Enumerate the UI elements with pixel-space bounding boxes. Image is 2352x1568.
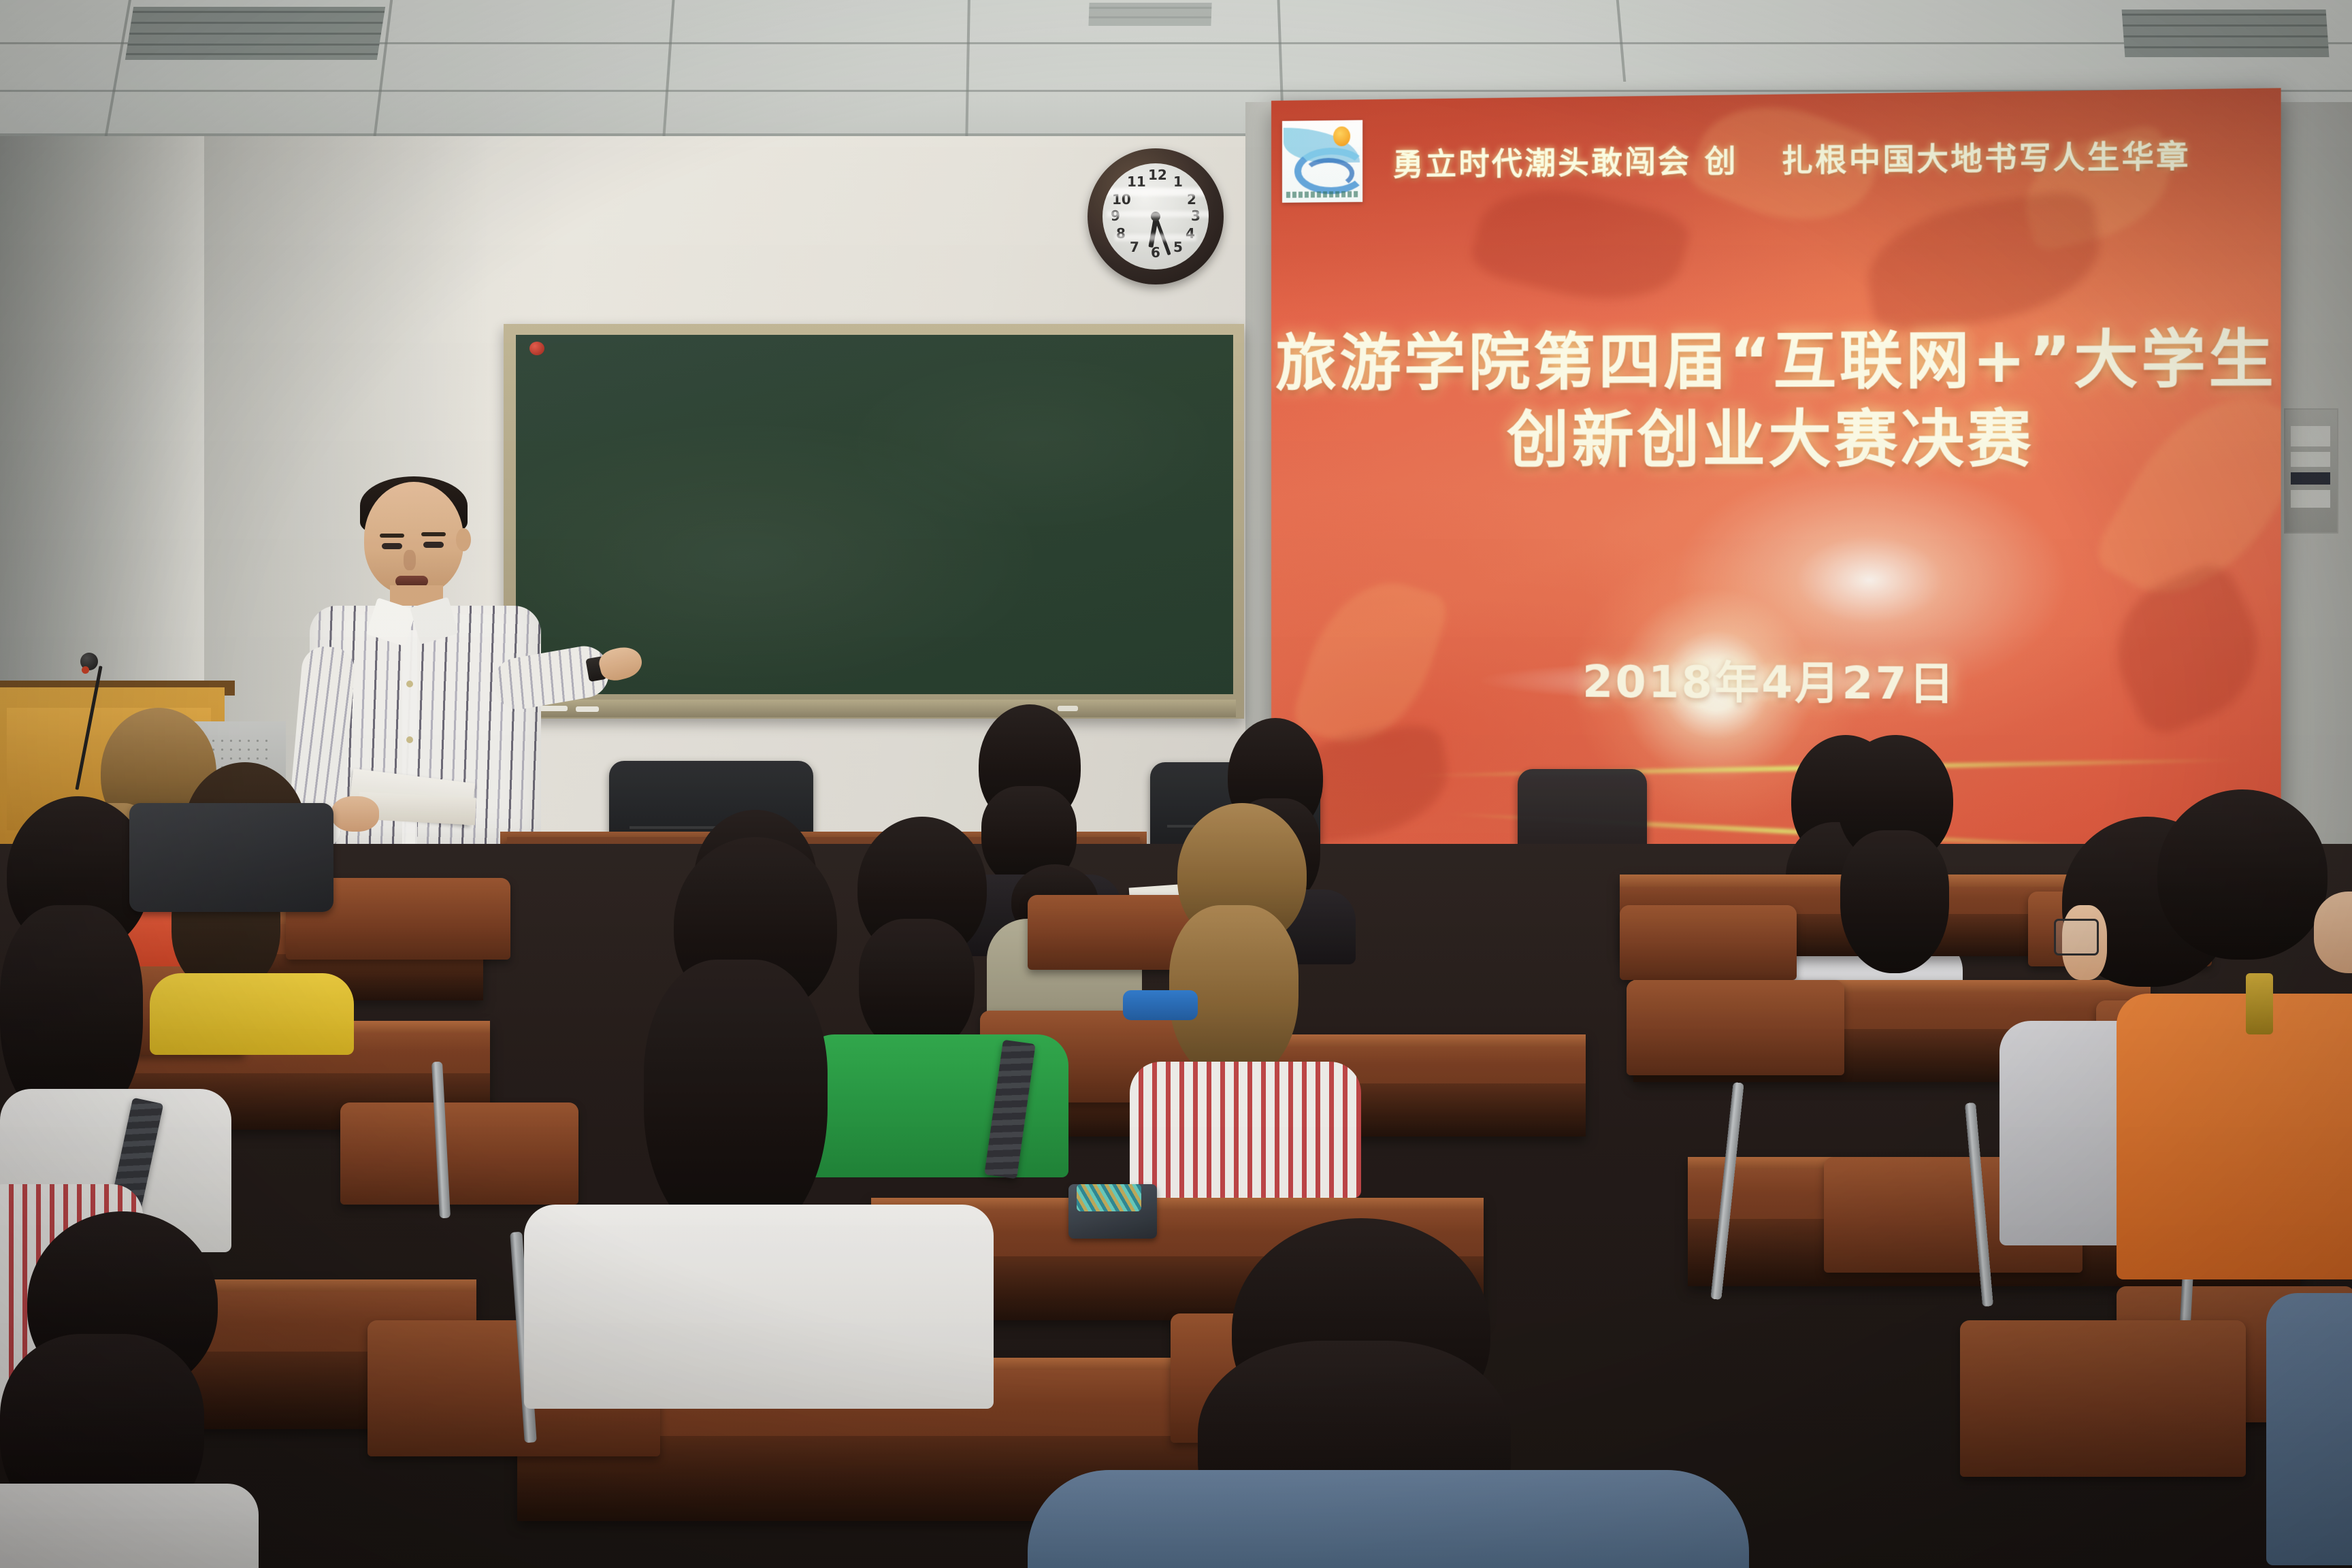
wall-clock: 12 1 2 3 4 5 6 7 8 9 10 11 (1088, 148, 1224, 284)
student-white-left-foreground (0, 1211, 272, 1568)
student-orange-tshirt (2117, 789, 2352, 1279)
slogan-part-2: 扎根中国大地书写人生华章 (1781, 138, 2190, 180)
black-backpack (129, 803, 333, 912)
chair-back (1627, 980, 1844, 1075)
slide-title-line-2: 创新创业大赛决赛 (1271, 399, 2281, 480)
ceiling-air-vent (125, 7, 385, 60)
slide-date: 2018年4月27日 (1271, 645, 2281, 715)
student-denim-shirt (1007, 1218, 1769, 1568)
blue-pen-case (1123, 990, 1198, 1020)
sun-icon (1333, 127, 1350, 146)
presenter-eye (423, 542, 444, 548)
student-dark-hair-right-back (1810, 735, 2001, 994)
chair-back (1620, 905, 1797, 980)
presenter-eye (382, 543, 402, 549)
ceiling-air-vent (1088, 3, 1211, 26)
slogan-part-1: 勇立时代潮头敢闯会 创 (1392, 143, 1737, 183)
classroom-photo: 12 1 2 3 4 5 6 7 8 9 10 11 (0, 0, 2352, 1568)
glitter-trinket (1077, 1184, 1141, 1211)
slide-slogan: 勇立时代潮头敢闯会 创扎根中国大地书写人生华章 (1392, 131, 2243, 184)
slide-main-title: 旅游学院第四届“互联网+”大学生 创新创业大赛决赛 (1271, 320, 2281, 480)
student-denim-right-edge (2266, 1293, 2352, 1565)
eyeglasses (2054, 919, 2099, 955)
wall-control-panel[interactable] (2284, 408, 2338, 534)
internet-plus-competition-logo (1282, 120, 1362, 202)
student-white-tee-ponytail (517, 837, 994, 1402)
slide-title-line-1: 旅游学院第四届“互联网+”大学生 (1271, 320, 2281, 403)
red-magnet (529, 342, 544, 355)
gold-trinket (2246, 973, 2273, 1034)
chair-back (1960, 1320, 2246, 1477)
ceiling-air-vent (2122, 10, 2330, 57)
